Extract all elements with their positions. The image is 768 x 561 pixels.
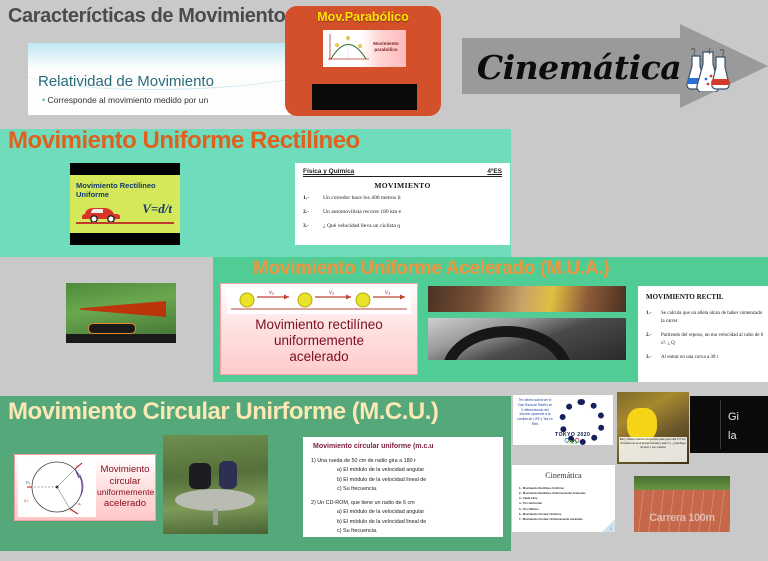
worksheet-item: 2.- Partiendo del reposo, un mo velocida… — [646, 332, 766, 347]
worksheet-mua-title: MOVIMIENTO RECTIL — [646, 293, 723, 301]
worksheet-mru[interactable]: Física y Química 4ºES MOVIMIENTO 1.- Un … — [295, 163, 510, 245]
worksheet-item: 3.- Al entrar en una curva a 30 r — [646, 354, 766, 362]
worksheet-mru-header: Física y Química 4ºES — [303, 168, 502, 177]
player-bar — [66, 334, 176, 343]
worksheet-line: b) El módulo de la velocidad lineal de — [311, 476, 501, 485]
relatividad-bullet-text: Corresponde al movimiento medido por un — [48, 95, 209, 105]
relatividad-bullet: • Corresponde al movimiento medido por u… — [42, 95, 208, 105]
mrua-diagram-icon: v₁ v₂ v₃ — [227, 288, 411, 314]
band-mru-title: Movimiento Uniforme Rectilíneo — [8, 127, 360, 155]
speed-tag — [88, 323, 136, 334]
car-icon — [82, 200, 126, 222]
video-thumb-parabolico[interactable] — [312, 84, 417, 110]
worksheet-mcu[interactable]: Movimiento circular uniforme (m.c.u 1) U… — [303, 437, 503, 537]
worksheet-mua-list: 1.- Se calcula que un atleta alcan de ha… — [646, 310, 766, 369]
card-mcua[interactable]: P₀ 2 r a₀ v Movimiento circular uniforme… — [14, 454, 156, 521]
road-line — [76, 222, 174, 224]
person-1 — [189, 463, 211, 489]
card-mrua[interactable]: v₁ v₂ v₃ Movimiento rectilíneo uniformem… — [220, 283, 418, 375]
svg-text:2 r: 2 r — [24, 498, 29, 503]
caption-line-1: Movimiento — [100, 464, 149, 475]
carousel-post — [213, 509, 218, 525]
card-parabolico-label: Mov.Parabólico — [285, 10, 441, 24]
thumb-parabolico-caption: Movimiento parabólico — [369, 41, 403, 52]
video-thumb-mru-caption: Movimiento Rectilineo Uniforme — [76, 181, 180, 200]
relatividad-title: Relatividad de Movimiento — [38, 73, 214, 90]
giros-line-2: la — [728, 430, 737, 442]
worksheet-mru-title: MOVIMIENTO — [295, 181, 510, 190]
svg-text:v: v — [76, 464, 78, 468]
thumb-parabolico-diagram[interactable]: Movimiento parabólico — [323, 30, 406, 67]
person-2 — [219, 461, 237, 489]
cinematica-wordmark: Cinemática — [474, 40, 684, 94]
video-thumb-futbol[interactable] — [66, 283, 176, 343]
item-number: 3.- — [646, 354, 655, 362]
svg-text:v₁: v₁ — [269, 290, 274, 296]
bullet-marker-icon: • — [42, 95, 45, 105]
atleta-frame — [428, 286, 626, 312]
worksheet-mcu-title: Movimiento circular uniforme (m.c.u — [313, 443, 434, 450]
video-thumb-mru[interactable]: Movimiento Rectilineo Uniforme V=d/t — [70, 163, 180, 245]
slide-thumb-tokyo2020[interactable]: Ten dentro sabrá ser el Cipo Raza de Dis… — [513, 395, 613, 445]
item-text: Un corredor hace los 400 metros li — [323, 195, 401, 201]
caption-line-2: circular — [110, 476, 141, 487]
worksheet-line: 2) Un CD-ROM, que tiene un radio de 6 cm — [311, 499, 501, 508]
slide-thumb-relatividad[interactable]: Relatividad de Movimiento • Corresponde … — [28, 43, 293, 115]
worksheet-mru-subject: Física y Química — [303, 168, 354, 175]
item-number: 3.- — [303, 223, 315, 229]
arrow-banner-cinematica: Cinemática — [462, 24, 768, 108]
item-number: 1.- — [646, 310, 655, 325]
caption-line-3: acelerado — [289, 349, 348, 364]
item-text: Se calcula que un atleta alcan de haber … — [661, 310, 766, 325]
caption-line-1: Movimiento rectilíneo — [255, 317, 383, 332]
item-text: Partiendo del reposo, un mo velocidad al… — [661, 332, 766, 347]
svg-text:v₃: v₃ — [385, 290, 391, 296]
item-number: 1.- — [303, 195, 315, 201]
item-text: Al entrar en una curva a 30 r — [661, 354, 718, 362]
video-thumb-pista[interactable]: Carrera 100m — [634, 476, 730, 532]
item-text: ¿ Qué velocidad lleva un ciclista q — [323, 223, 400, 229]
caption-line-3: uniformemente — [97, 487, 154, 497]
slide-page-number: 1 — [610, 527, 612, 531]
parabola-chart-icon — [325, 32, 371, 64]
carousel-platform — [175, 489, 255, 511]
worksheet-line: c) Su frecuencia. — [311, 527, 501, 536]
svg-text:a₀: a₀ — [78, 502, 82, 506]
slide-canvas: Caracterícticas de Movimiento Relativida… — [0, 0, 768, 561]
worksheet-item: 2.- Un automovilista recorre 180 km e — [303, 209, 506, 215]
worksheet-line: c) Su frecuencia. — [311, 485, 501, 494]
svg-text:P₀: P₀ — [26, 480, 31, 485]
list-item: 7.- Movimiento Circular Uniformemente Ac… — [519, 517, 609, 522]
slide-corner-decor — [602, 519, 615, 532]
worksheet-line: 1) Una rueda de 50 cm de radio gira a 18… — [311, 457, 501, 466]
olympic-rings-icon — [563, 438, 589, 444]
cinematica-slide-title: Cinemática — [512, 471, 615, 480]
item-text: Un automovilista recorre 180 km e — [323, 209, 401, 215]
video-thumb-mru-formula: V=d/t — [142, 201, 172, 217]
pista-caption: Carrera 100m — [634, 512, 730, 524]
simpsons-subtitle: Bart y Nelson quieren comprobar quién qu… — [619, 437, 687, 462]
item-number: 2.- — [303, 209, 315, 215]
band-mua-title: Movimiento Uniforme Acelerado (M.U.A.) — [253, 258, 609, 280]
worksheet-line: a) El módulo de la velocidad angular — [311, 466, 501, 475]
worksheet-item: 1.- Un corredor hace los 400 metros li — [303, 195, 506, 201]
worksheet-line: b) El módulo de la velocidad lineal de — [311, 518, 501, 527]
worksheet-line: a) El módulo de la velocidad angular — [311, 508, 501, 517]
tokyo-slide-text: Ten dentro sabrá ser el Cipo Raza de Dis… — [517, 398, 553, 427]
caption-line-2: uniformemente — [274, 333, 364, 348]
caption-line-4: acelerado — [104, 498, 146, 509]
giros-line-1: Gi — [728, 411, 739, 423]
card-mrua-caption: Movimiento rectilíneo uniformemente acel… — [221, 317, 417, 365]
video-thumb-atleta[interactable] — [428, 286, 626, 312]
worksheet-item: 3.- ¿ Qué velocidad lleva un ciclista q — [303, 223, 506, 229]
worksheet-mua[interactable]: MOVIMIENTO RECTIL 1.- Se calcula que un … — [638, 286, 768, 382]
band-mcu-title: Movimiento Circular Unirforme (M.C.U.) — [8, 398, 438, 426]
video-thumb-carrusel[interactable] — [163, 435, 268, 534]
circular-motion-diagram-icon: P₀ 2 r a₀ v — [18, 457, 96, 517]
worksheet-mcu-body: 1) Una rueda de 50 cm de radio gira a 18… — [311, 457, 501, 537]
slide-thumb-cinematica-index[interactable]: Cinemática 1.- Movimiento Rectilíneo Uni… — [512, 465, 615, 532]
video-thumb-giros[interactable]: Gi la — [690, 396, 768, 453]
item-number: 2.- — [646, 332, 655, 347]
video-thumb-simpsons[interactable]: Bart y Nelson quieren comprobar quién qu… — [617, 392, 689, 464]
worksheet-mru-list: 1.- Un corredor hace los 400 metros li 2… — [303, 195, 506, 237]
worksheet-mru-course: 4ºES — [487, 168, 502, 175]
frame-divider — [720, 400, 721, 449]
worksheet-item: 1.- Se calcula que un atleta alcan de ha… — [646, 310, 766, 325]
card-mcua-caption: Movimiento circular uniformemente aceler… — [97, 464, 153, 510]
page-title: Caracterícticas de Movimiento — [8, 5, 285, 28]
pista-lanes — [634, 490, 730, 532]
flasks-icon — [684, 48, 730, 92]
video-thumb-volante[interactable] — [428, 318, 626, 360]
svg-text:v₂: v₂ — [329, 290, 335, 296]
video-thumb-mru-frame: Movimiento Rectilineo Uniforme V=d/t — [70, 175, 180, 233]
cinematica-topic-list: 1.- Movimiento Rectilíneo Uniforme 2.- M… — [519, 486, 609, 522]
